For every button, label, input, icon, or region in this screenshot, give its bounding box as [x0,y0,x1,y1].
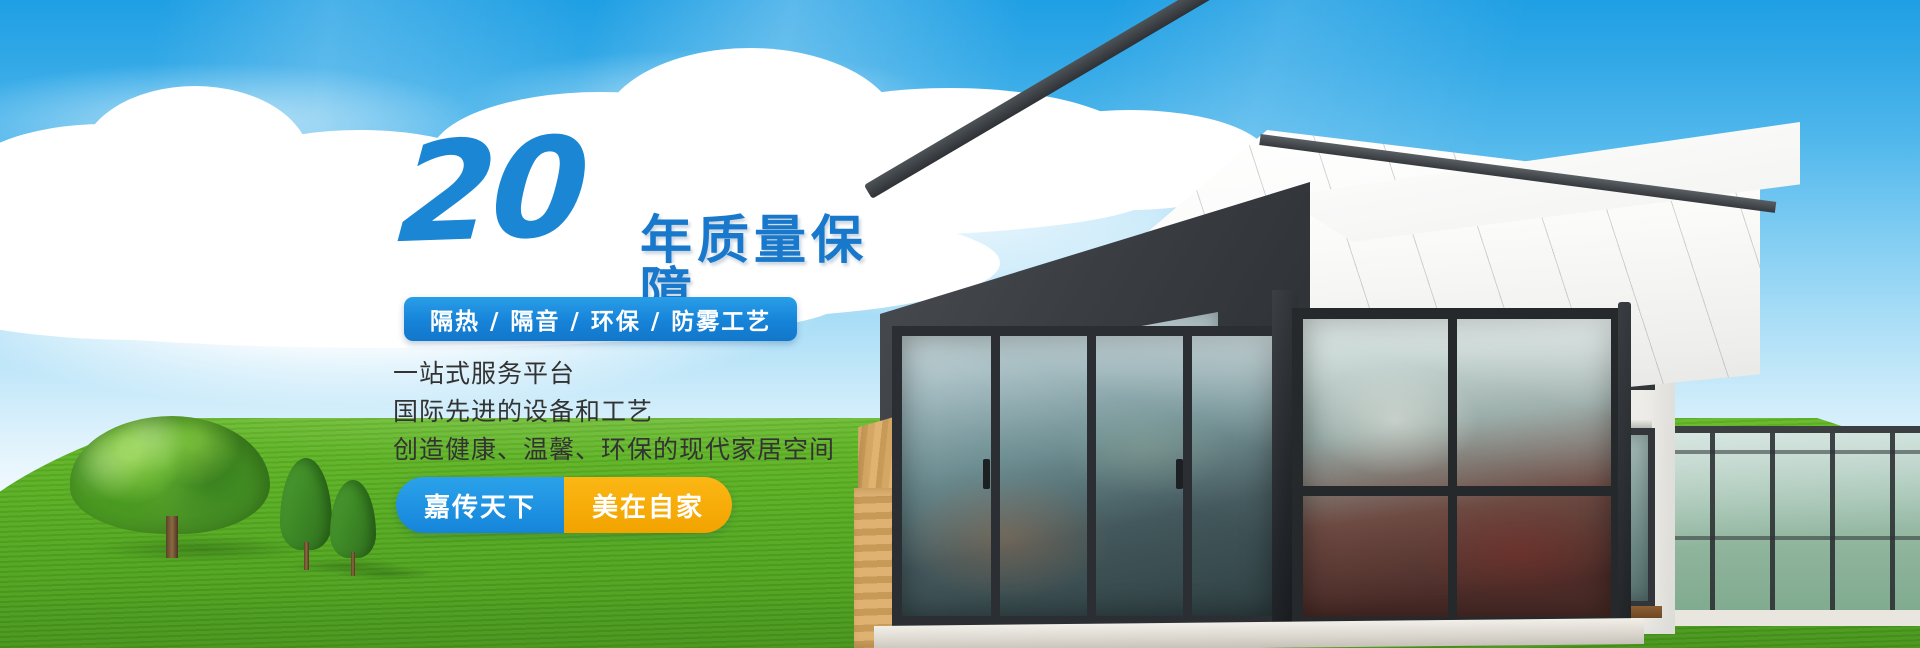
years-badge-number: 20 [395,119,589,263]
cta-primary-button[interactable]: 嘉传天下 [396,477,564,533]
description-line-3: 创造健康、温馨、环保的现代家居空间 [393,431,835,469]
sunroom-glass-bay-left [892,326,1282,626]
promo-banner: 20 年质量保障 隔热 / 隔音 / 环保 / 防雾工艺 一站式服务平台 国际先… [0,0,1920,648]
feature-pill-label: 隔热 / 隔音 / 环保 / 防雾工艺 [430,302,771,336]
description-line-1: 一站式服务平台 [393,355,835,393]
downpipe [1618,302,1631,632]
cta-button-group[interactable]: 嘉传天下 美在自家 [396,477,732,533]
description-line-2: 国际先进的设备和工艺 [393,393,835,431]
feature-pill: 隔热 / 隔音 / 环保 / 防雾工艺 [404,297,797,341]
sunroom-building [840,108,1920,648]
description-block: 一站式服务平台 国际先进的设备和工艺 创造健康、温馨、环保的现代家居空间 [393,355,835,469]
cta-accent-button[interactable]: 美在自家 [564,477,732,533]
banner-copy: 20 年质量保障 隔热 / 隔音 / 环保 / 防雾工艺 一站式服务平台 国际先… [0,0,900,648]
sunroom-glass-bay-right [1292,308,1622,628]
